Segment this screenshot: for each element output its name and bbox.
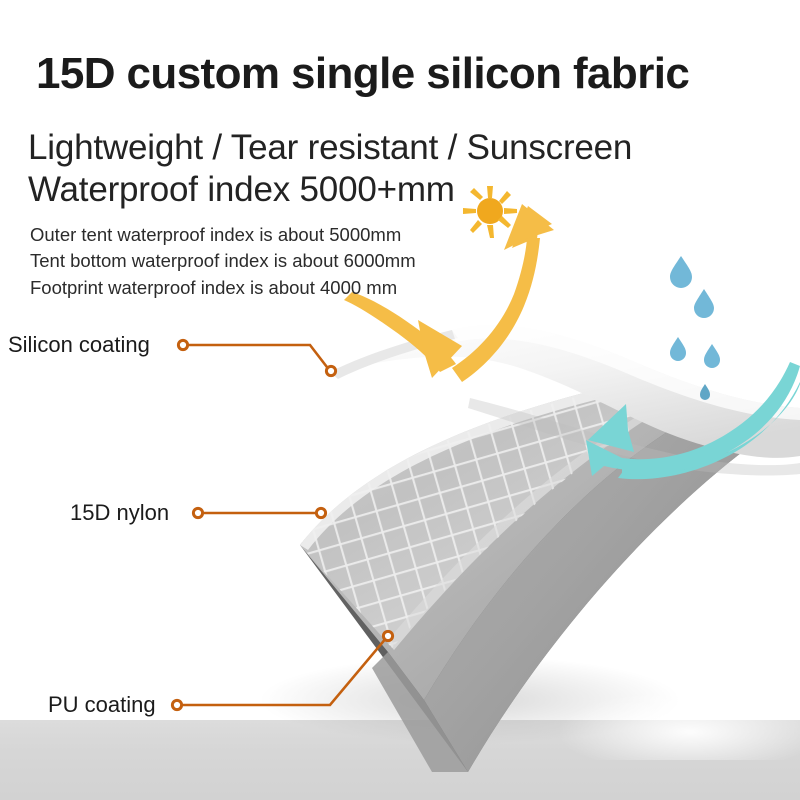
subtitle-waterproof-index: Waterproof index 5000+mm [28,172,455,207]
spec-footprint: Footprint waterproof index is about 4000… [30,279,397,298]
callout-label-pu-coating: PU coating [48,694,156,716]
leader-dot-pu-target [383,631,392,640]
subtitle-features: Lightweight / Tear resistant / Sunscreen [28,130,632,165]
callout-label-15d-nylon: 15D nylon [70,502,169,524]
leader-dot-nylon-target [316,508,325,517]
spec-outer-tent: Outer tent waterproof index is about 500… [30,226,401,245]
callout-label-silicon-coating: Silicon coating [8,334,150,356]
leader-dot-silicon-target [326,366,335,375]
leader-dot-nylon-label [193,508,202,517]
leader-line-pu [179,637,387,705]
leader-line-silicon [185,345,330,371]
infographic-canvas: 15D custom single silicon fabric Lightwe… [0,0,800,800]
page-title: 15D custom single silicon fabric [36,52,689,96]
spec-tent-bottom: Tent bottom waterproof index is about 60… [30,252,416,271]
leader-dot-pu-label [172,700,181,709]
callout-leader-lines [0,0,800,800]
leader-dot-silicon-label [178,340,187,349]
